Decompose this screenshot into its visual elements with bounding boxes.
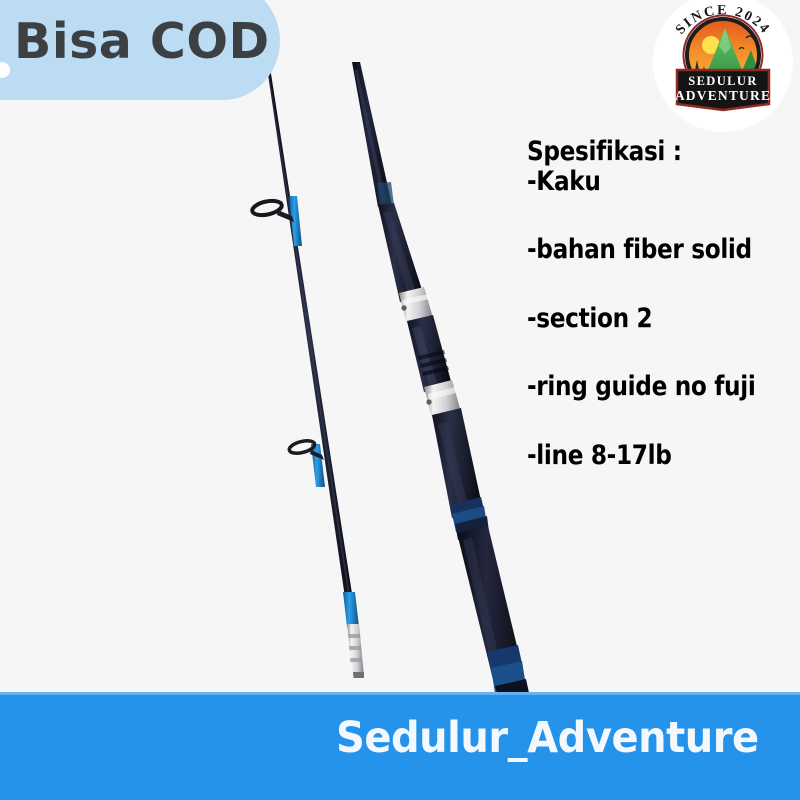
rod-butt-section [352,62,531,702]
shop-name-label: Sedulur_Adventure [336,713,759,763]
logo-brand-line-1: SEDULUR [688,74,758,88]
spec-item-material: -bahan fiber solid [527,236,761,265]
spec-item-line-rating: -line 8-17lb [527,442,761,471]
tip-section-ferrule [347,624,364,678]
spec-item-kaku: -Kaku [527,168,761,197]
specification-list: Spesifikasi : -Kaku -bahan fiber solid -… [527,138,799,471]
spec-item-section: -section 2 [527,305,761,334]
shop-name-banner: Sedulur_Adventure [0,692,800,800]
spec-heading: Spesifikasi : [527,138,761,167]
logo-brand-line-2: ADVENTURE [675,88,771,103]
banner-top-line [0,692,800,695]
cod-badge-label: Bisa COD [14,13,270,70]
logo-banner: SEDULUR ADVENTURE [675,70,771,110]
spec-item-ring-guide: -ring guide no fuji [527,373,761,402]
product-image-canvas: Bisa COD [0,0,800,800]
rod-tip-section [251,64,364,678]
